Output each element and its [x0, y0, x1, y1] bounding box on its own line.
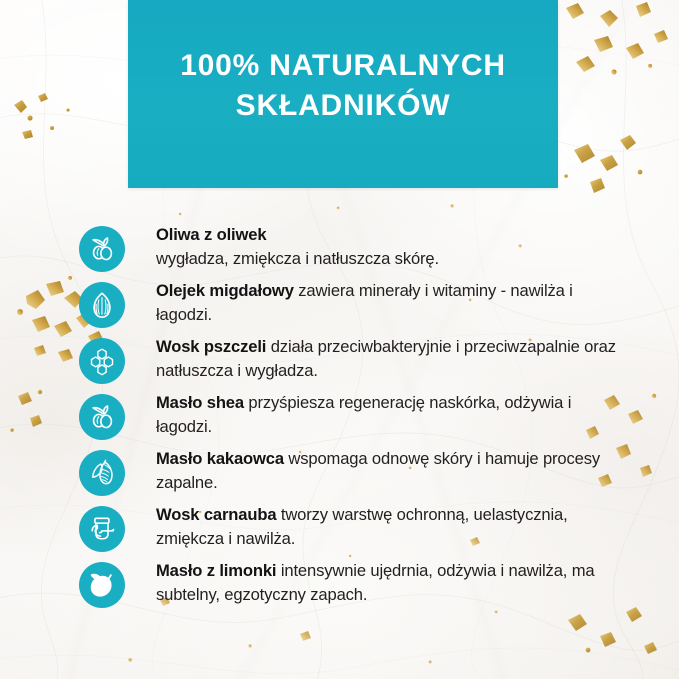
ingredient-list: Oliwa z oliwek wygładza, zmiękcza i natł… [0, 226, 679, 618]
headline-line-2: SKŁADNIKÓW [128, 86, 558, 126]
ingredient-text: Olejek migdałowy zawiera minerały i wita… [156, 279, 626, 326]
headline-line-1: 100% NATURALNYCH [128, 46, 558, 86]
lime-icon [79, 562, 125, 608]
ingredient-text: Wosk carnauba tworzy warstwę ochronną, u… [156, 503, 626, 550]
ingredient-name: Wosk pszczeli [156, 337, 266, 356]
ingredient-text: Wosk pszczeli działa przeciwbakteryjnie … [156, 335, 626, 382]
ingredient-text: Masło z limonki intensywnie ujędrnia, od… [156, 559, 626, 606]
cocoa-pod-icon [79, 450, 125, 496]
ingredient-item: Masło shea przyśpiesza regenerację naskó… [0, 394, 679, 450]
ingredient-item: Wosk pszczeli działa przeciwbakteryjnie … [0, 338, 679, 394]
ingredient-item: Oliwa z oliwek wygładza, zmiękcza i natł… [0, 226, 679, 282]
infographic-page: 100% NATURALNYCH SKŁADNIKÓW [0, 0, 679, 679]
ingredient-name: Masło z limonki [156, 561, 276, 580]
shea-nut-icon [79, 394, 125, 440]
headline-banner-text: 100% NATURALNYCH SKŁADNIKÓW [128, 46, 558, 126]
ingredient-name: Oliwa z oliwek [156, 225, 266, 244]
ingredient-name: Masło shea [156, 393, 244, 412]
ingredient-text: Masło kakaowca wspomaga odnowę skóry i h… [156, 447, 626, 494]
ingredient-name: Wosk carnauba [156, 505, 276, 524]
ingredient-item: Olejek migdałowy zawiera minerały i wita… [0, 282, 679, 338]
ingredient-name: Olejek migdałowy [156, 281, 294, 300]
ingredient-description: wygładza, zmiękcza i natłuszcza skórę. [156, 249, 439, 268]
olive-icon [79, 226, 125, 272]
ingredient-name: Masło kakaowca [156, 449, 284, 468]
ingredient-item: Wosk carnauba tworzy warstwę ochronną, u… [0, 506, 679, 562]
ingredient-text: Oliwa z oliwek wygładza, zmiękcza i natł… [156, 223, 626, 270]
honeycomb-icon [79, 338, 125, 384]
almond-icon [79, 282, 125, 328]
ingredient-item: Masło z limonki intensywnie ujędrnia, od… [0, 562, 679, 618]
ingredient-text: Masło shea przyśpiesza regenerację naskó… [156, 391, 626, 438]
wax-jar-icon [79, 506, 125, 552]
headline-banner: 100% NATURALNYCH SKŁADNIKÓW [128, 0, 558, 188]
ingredient-item: Masło kakaowca wspomaga odnowę skóry i h… [0, 450, 679, 506]
